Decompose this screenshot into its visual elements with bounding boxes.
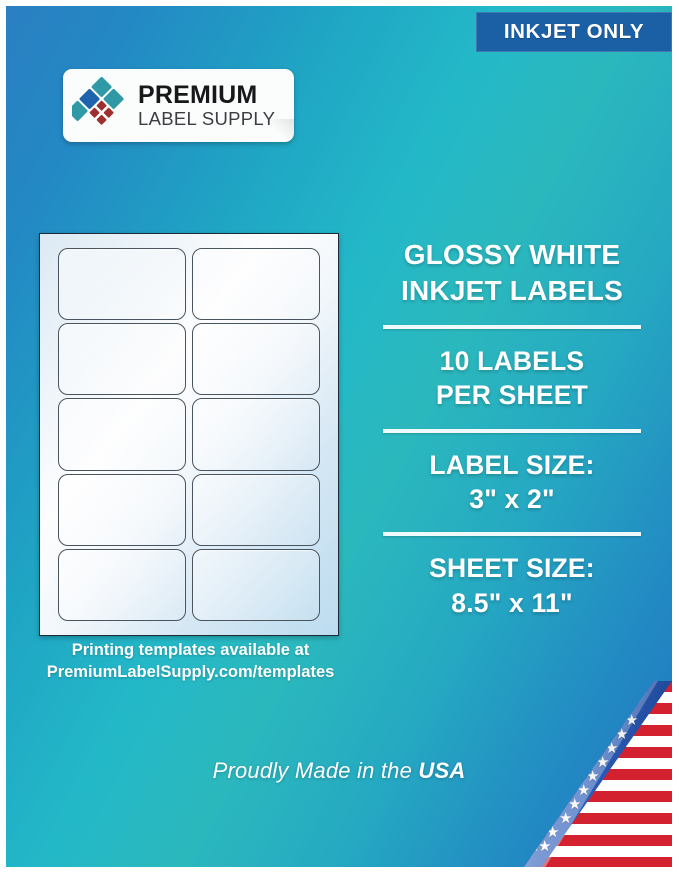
- labels-per-sheet-count: 10 LABELS: [364, 344, 660, 378]
- sheet-size-spec: SHEET SIZE: 8.5" x 11": [364, 551, 660, 620]
- divider-rule: [383, 325, 641, 329]
- flag-star-icon: ★: [552, 797, 565, 812]
- diamond-grid-icon: [72, 77, 134, 135]
- label-size-title: LABEL SIZE:: [364, 448, 660, 482]
- brand-name-primary: PREMIUM: [138, 83, 275, 108]
- labels-per-sheet-unit: PER SHEET: [364, 378, 660, 412]
- label-cell: [58, 248, 186, 320]
- flag-star-icon: ★: [570, 769, 583, 784]
- label-cell: [192, 474, 320, 546]
- flag-star-icon: ★: [553, 769, 566, 784]
- label-cell: [58, 474, 186, 546]
- flag-star-icon: ★: [620, 699, 633, 714]
- label-cell: [58, 323, 186, 395]
- label-size-value: 3" x 2": [364, 482, 660, 516]
- brand-name-secondary: LABEL SUPPLY: [138, 110, 275, 129]
- flag-star-icon: ★: [529, 811, 542, 826]
- divider-rule: [383, 429, 641, 433]
- label-cell: [192, 549, 320, 621]
- inkjet-only-badge: INKJET ONLY: [476, 12, 672, 52]
- flag-star-icon: ★: [536, 797, 549, 812]
- flag-star-icon: ★: [590, 713, 603, 728]
- tagline-usa: USA: [418, 758, 465, 783]
- label-sheet-mockup: [39, 233, 339, 636]
- flag-star-icon: ★: [602, 699, 615, 714]
- templates-caption-line1: Printing templates available at: [18, 640, 363, 662]
- label-cell: [192, 398, 320, 470]
- flag-star-icon: ★: [544, 783, 557, 798]
- templates-caption: Printing templates available at PremiumL…: [18, 640, 363, 684]
- templates-website-url: PremiumLabelSupply.com/templates: [18, 662, 363, 684]
- label-cell: [58, 398, 186, 470]
- labels-per-sheet-spec: 10 LABELS PER SHEET: [364, 344, 660, 413]
- label-cell: [192, 248, 320, 320]
- flag-star-icon: ★: [562, 755, 575, 770]
- flag-star-icon: ★: [588, 741, 601, 756]
- flag-star-icon: ★: [561, 783, 574, 798]
- product-title-line2: INKJET LABELS: [364, 273, 660, 309]
- brand-logo-card: PREMIUM LABEL SUPPLY: [63, 69, 294, 142]
- product-title: GLOSSY WHITE INKJET LABELS: [364, 237, 660, 309]
- label-grid: [58, 248, 320, 621]
- tagline-prefix: Proudly Made in the: [213, 758, 419, 783]
- flag-star-icon: ★: [579, 755, 592, 770]
- usa-flag-page-curl-icon: ★★★★★★★★★★★★★★★★★★★★★★★★★★★★★★: [524, 681, 672, 867]
- brand-wordmark: PREMIUM LABEL SUPPLY: [138, 83, 275, 129]
- label-size-spec: LABEL SIZE: 3" x 2": [364, 448, 660, 517]
- divider-rule: [383, 532, 641, 536]
- flag-star-icon: ★: [530, 825, 543, 840]
- product-package-image: INKJET ONLY: [0, 0, 679, 873]
- label-cell: [58, 549, 186, 621]
- product-title-line1: GLOSSY WHITE: [364, 237, 660, 273]
- flag-star-icon: ★: [598, 727, 611, 742]
- label-cell: [192, 323, 320, 395]
- flag-star-icon: ★: [571, 741, 584, 756]
- flag-star-icon: ★: [608, 713, 621, 728]
- specifications-column: GLOSSY WHITE INKJET LABELS 10 LABELS PER…: [364, 237, 660, 620]
- sheet-size-title: SHEET SIZE:: [364, 551, 660, 585]
- sheet-size-value: 8.5" x 11": [364, 586, 660, 620]
- inkjet-only-label: INKJET ONLY: [504, 20, 644, 44]
- flag-star-icon: ★: [581, 727, 594, 742]
- artboard-background: INKJET ONLY: [6, 6, 672, 867]
